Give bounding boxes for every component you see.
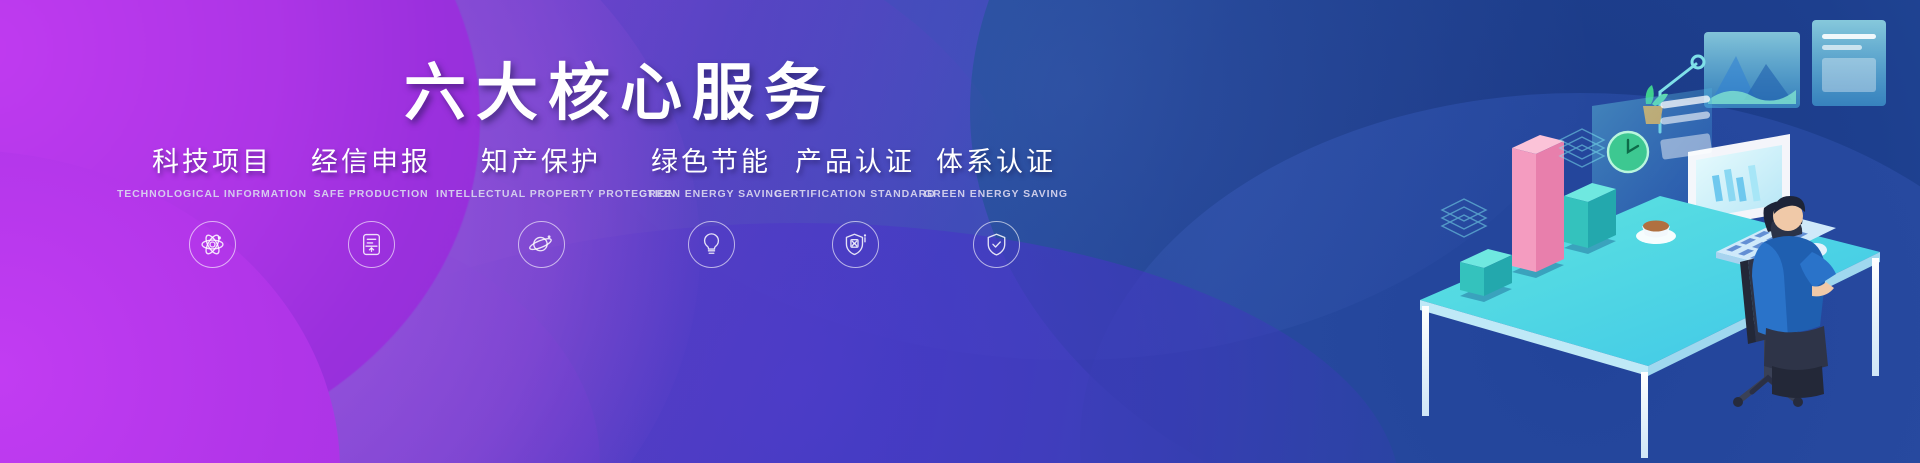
page-title: 六大核心服务: [0, 42, 1240, 132]
service-banner: 六大核心服务 科技项目 TECHNOLOGICAL INFORMATION 经信…: [0, 0, 1920, 463]
desk-leg-front: [1641, 372, 1648, 458]
isometric-office-workspace: [1360, 0, 1920, 463]
document-upload-icon: [359, 232, 384, 257]
service-icon-circle[interactable]: [688, 221, 735, 268]
illustration-svg: [1360, 0, 1920, 463]
service-icon-circle[interactable]: [189, 221, 236, 268]
service-icon-circle[interactable]: [973, 221, 1020, 268]
planet-icon: [529, 232, 554, 257]
service-title-en: GREEN ENERGY SAVING: [891, 188, 1101, 200]
desk-leg-left: [1422, 306, 1429, 416]
shield-badge-icon: [843, 232, 868, 257]
desk-leg-right: [1872, 258, 1879, 376]
lightbulb-icon: [699, 232, 724, 257]
service-title-cn: 体系认证: [891, 140, 1101, 179]
service-icon-circle[interactable]: [348, 221, 395, 268]
shield-check-icon: [984, 232, 1009, 257]
atom-icon: [200, 232, 225, 257]
service-item-system-certification[interactable]: 体系认证 GREEN ENERGY SAVING: [891, 140, 1101, 268]
floating-panel-document: [1812, 20, 1886, 106]
mountain-chart-panel: [1704, 32, 1800, 108]
services-list: 科技项目 TECHNOLOGICAL INFORMATION 经信申报 SAFE…: [0, 140, 1100, 290]
service-icon-circle[interactable]: [832, 221, 879, 268]
service-icon-circle[interactable]: [518, 221, 565, 268]
